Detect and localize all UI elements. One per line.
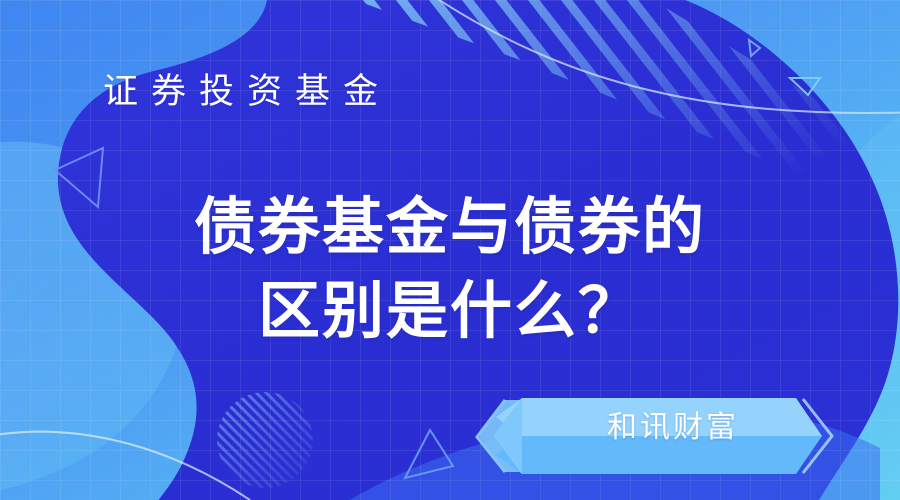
poster-canvas: 证券投资基金 债券基金与债券的 区别是什么？ 和讯财富 xyxy=(0,0,900,500)
brand-label: 和讯财富 xyxy=(558,408,788,448)
eyebrow-text: 证券投资基金 xyxy=(103,74,391,111)
striped-circle xyxy=(217,392,313,488)
